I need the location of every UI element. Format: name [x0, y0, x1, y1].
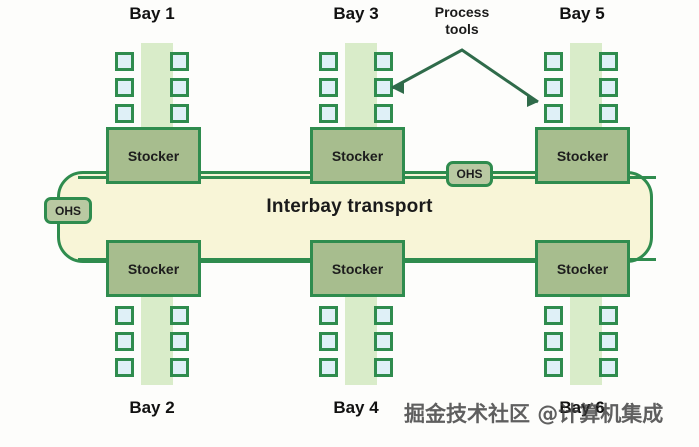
process-tool-bay-6-4[interactable] [599, 306, 618, 325]
track-upper-right-exit [628, 176, 656, 179]
process-tool-bay-5-3[interactable] [544, 104, 563, 123]
process-tool-bay-4-5[interactable] [374, 332, 393, 351]
process-tool-bay-6-5[interactable] [599, 332, 618, 351]
process-tool-bay-6-2[interactable] [544, 332, 563, 351]
track-lower-bay2-bay4 [198, 258, 313, 261]
process-tool-bay-6-3[interactable] [544, 358, 563, 377]
ohs-unit-middle[interactable]: OHS [446, 161, 493, 187]
stocker-bay-1[interactable]: Stocker [106, 127, 201, 184]
stocker-bay-2[interactable]: Stocker [106, 240, 201, 297]
bay-strip-bay-5 [570, 43, 602, 138]
process-tool-bay-3-2[interactable] [319, 78, 338, 97]
bay-strip-bay-3 [345, 43, 377, 138]
process-tool-bay-1-2[interactable] [115, 78, 134, 97]
process-tool-bay-3-1[interactable] [319, 52, 338, 71]
process-tool-bay-3-3[interactable] [319, 104, 338, 123]
track-lower-bay4-bay6 [401, 258, 538, 261]
diagram-canvas: Interbay transport Bay 1 Stocker Bay 3 S… [0, 0, 699, 447]
arrowhead-to-bay-5 [527, 95, 538, 107]
process-tool-bay-1-1[interactable] [115, 52, 134, 71]
process-tool-bay-5-6[interactable] [599, 104, 618, 123]
bay-label-bay-1: Bay 1 [97, 4, 207, 24]
watermark-text: 掘金技术社区 @计算机集成 [404, 398, 663, 428]
process-tool-bay-1-4[interactable] [170, 52, 189, 71]
interbay-transport-label: Interbay transport [0, 196, 699, 218]
process-tool-bay-2-3[interactable] [115, 358, 134, 377]
bay-label-bay-5: Bay 5 [527, 4, 637, 24]
process-tool-bay-4-2[interactable] [319, 332, 338, 351]
process-tool-bay-1-5[interactable] [170, 78, 189, 97]
bay-label-bay-3: Bay 3 [301, 4, 411, 24]
track-lower-right-exit [628, 258, 656, 261]
bay-label-bay-4: Bay 4 [301, 398, 411, 418]
process-tool-bay-5-5[interactable] [599, 78, 618, 97]
process-tools-annotation-line-1: Process [397, 4, 527, 21]
process-tool-bay-6-1[interactable] [544, 306, 563, 325]
process-tool-bay-2-2[interactable] [115, 332, 134, 351]
process-tool-bay-4-4[interactable] [374, 306, 393, 325]
process-tool-bay-4-3[interactable] [319, 358, 338, 377]
arrowhead-to-bay-3 [392, 82, 404, 94]
process-tool-bay-4-1[interactable] [319, 306, 338, 325]
process-tool-bay-1-3[interactable] [115, 104, 134, 123]
process-tool-bay-2-6[interactable] [170, 358, 189, 377]
process-tools-annotation-line-2: tools [397, 21, 527, 38]
process-tool-bay-2-1[interactable] [115, 306, 134, 325]
bay-strip-bay-4 [345, 290, 377, 385]
process-tool-bay-5-2[interactable] [544, 78, 563, 97]
ohs-unit-left[interactable]: OHS [44, 197, 92, 224]
stocker-bay-5[interactable]: Stocker [535, 127, 630, 184]
process-tools-leader-polyline [392, 50, 538, 102]
bay-label-bay-2: Bay 2 [97, 398, 207, 418]
process-tool-bay-6-6[interactable] [599, 358, 618, 377]
process-tool-bay-3-4[interactable] [374, 52, 393, 71]
bay-strip-bay-2 [141, 290, 173, 385]
process-tool-bay-5-4[interactable] [599, 52, 618, 71]
bay-strip-bay-6 [570, 290, 602, 385]
stocker-bay-3[interactable]: Stocker [310, 127, 405, 184]
process-tool-bay-4-6[interactable] [374, 358, 393, 377]
process-tool-bay-3-6[interactable] [374, 104, 393, 123]
bay-strip-bay-1 [141, 43, 173, 138]
process-tool-bay-5-1[interactable] [544, 52, 563, 71]
stocker-bay-4[interactable]: Stocker [310, 240, 405, 297]
stocker-bay-6[interactable]: Stocker [535, 240, 630, 297]
track-upper-bay1-bay3 [198, 176, 313, 179]
track-upper-bay3-ohs [401, 176, 449, 179]
process-tool-bay-3-5[interactable] [374, 78, 393, 97]
process-tool-bay-2-4[interactable] [170, 306, 189, 325]
process-tool-bay-2-5[interactable] [170, 332, 189, 351]
process-tool-bay-1-6[interactable] [170, 104, 189, 123]
track-upper-ohs-bay5 [490, 176, 538, 179]
process-tools-annotation: Process tools [397, 4, 527, 38]
